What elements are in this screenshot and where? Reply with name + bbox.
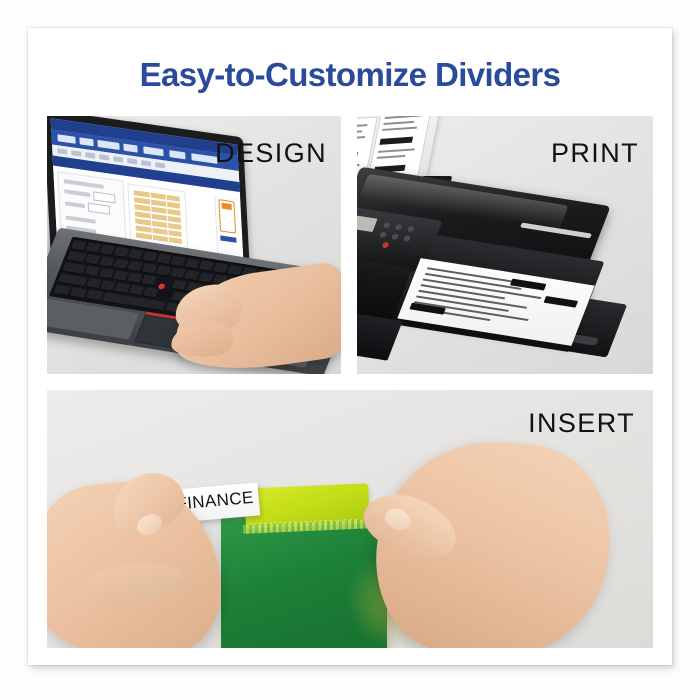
product-infographic: Easy-to-Customize Dividers [0, 0, 700, 700]
page-title: Easy-to-Customize Dividers [28, 56, 672, 94]
panel-design: DESIGN [47, 116, 341, 374]
panel-label-insert: INSERT [528, 408, 635, 439]
panel-print: PRINT [357, 116, 653, 374]
product-card: Easy-to-Customize Dividers [28, 28, 672, 665]
trackpoint-nub[interactable] [157, 283, 165, 290]
panel-label-print: PRINT [551, 138, 639, 169]
panel-label-design: DESIGN [215, 138, 327, 169]
hand-right-holding-divider [370, 434, 616, 648]
side-panel-action[interactable] [220, 235, 236, 242]
app-side-panel [214, 195, 240, 257]
panel-insert: FINANCE INSERT [47, 390, 653, 648]
divider-grid-template [134, 190, 182, 244]
selected-tab-swatch [218, 199, 236, 234]
left-hand-fingers [76, 556, 187, 612]
printer-power-led [381, 242, 389, 249]
printer-lcd-display [357, 215, 378, 232]
hand-thumb [171, 322, 234, 358]
